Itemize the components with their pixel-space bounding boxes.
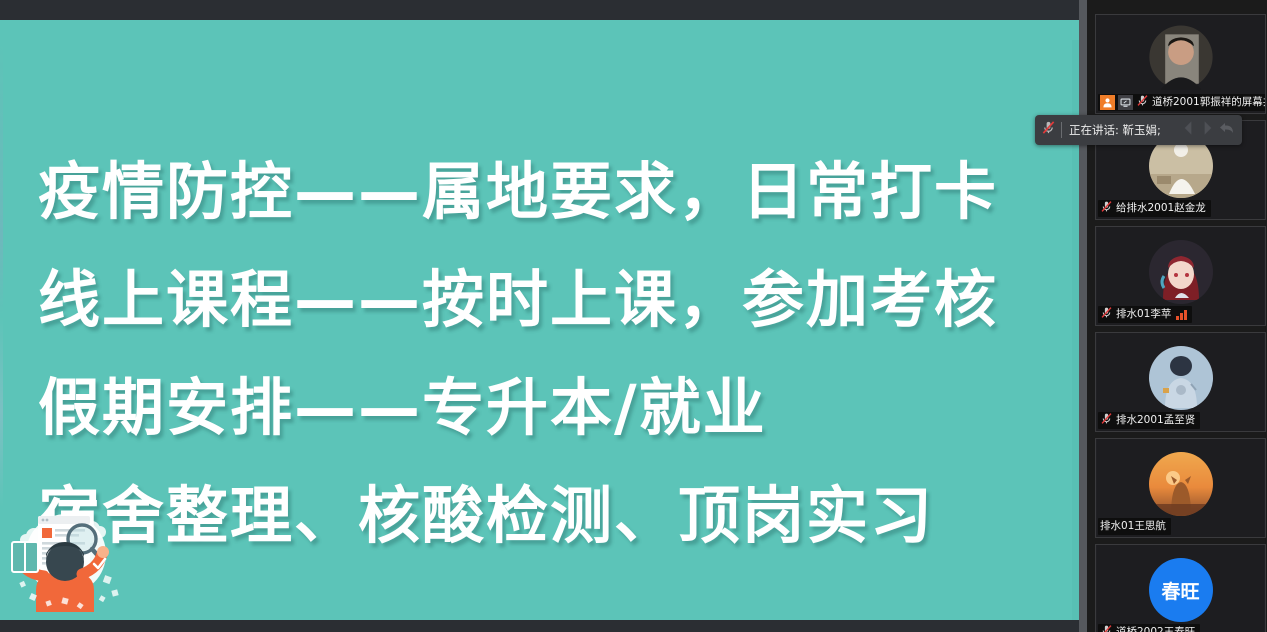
mic-muted-icon bbox=[1100, 306, 1113, 324]
person-with-magnifier-illustration bbox=[8, 502, 128, 612]
chevron-right-icon[interactable] bbox=[1199, 119, 1216, 142]
active-speaker-text: 正在讲话: 靳玉娟; bbox=[1069, 122, 1180, 138]
back-arrow-icon[interactable] bbox=[1218, 119, 1236, 142]
participant-tile[interactable]: 排水01王思航 bbox=[1095, 438, 1266, 538]
mic-muted-icon bbox=[1100, 624, 1113, 632]
slide-line-4: 宿舍整理、核酸检测、顶岗实习 bbox=[38, 462, 1028, 570]
participant-rail[interactable]: 道桥2001郭振祥的屏幕共享 给排水2001赵金龙 bbox=[1079, 0, 1267, 632]
banner-divider bbox=[1061, 122, 1062, 138]
participant-name-strip: 排水01王思航 bbox=[1098, 518, 1171, 535]
screen-share-badge bbox=[1118, 95, 1133, 110]
stage-top-letterbox bbox=[0, 0, 1079, 20]
mic-muted-icon bbox=[1100, 412, 1113, 430]
participant-name-strip: 道桥2001郭振祥的屏幕共享 bbox=[1098, 94, 1266, 111]
participant-name-strip: 排水01李苹 bbox=[1098, 306, 1192, 323]
participant-name-strip: 给排水2001赵金龙 bbox=[1098, 200, 1211, 217]
avatar bbox=[1149, 346, 1213, 410]
presentation-slide: 疫情防控——属地要求，日常打卡 线上课程——按时上课，参加考核 假期安排——专升… bbox=[0, 20, 1079, 620]
participant-name: 道桥2002王春旺 bbox=[1116, 624, 1195, 632]
avatar bbox=[1149, 240, 1213, 304]
participant-name: 排水01李苹 bbox=[1116, 306, 1171, 323]
participant-tile[interactable]: 排水01李苹 bbox=[1095, 226, 1266, 326]
participant-tile[interactable]: 道桥2001郭振祥的屏幕共享 bbox=[1095, 14, 1266, 114]
slide-line-1: 疫情防控——属地要求，日常打卡 bbox=[38, 138, 1028, 246]
participant-name: 排水2001孟至贤 bbox=[1116, 412, 1195, 429]
shared-screen-stage[interactable]: 疫情防控——属地要求，日常打卡 线上课程——按时上课，参加考核 假期安排——专升… bbox=[0, 0, 1079, 632]
slide-left-edge-artifact bbox=[0, 40, 3, 620]
participant-name: 给排水2001赵金龙 bbox=[1116, 200, 1206, 217]
slide-line-2: 线上课程——按时上课，参加考核 bbox=[38, 246, 1028, 354]
stage-bottom-letterbox bbox=[0, 620, 1079, 632]
avatar bbox=[1149, 452, 1213, 516]
participant-name-strip: 道桥2002王春旺 bbox=[1098, 624, 1200, 632]
person-badge bbox=[1100, 95, 1115, 110]
banner-nav-controls[interactable] bbox=[1180, 119, 1236, 142]
signal-strength-icon bbox=[1176, 309, 1187, 320]
mic-muted-icon bbox=[1041, 120, 1056, 140]
avatar: 春旺 bbox=[1149, 558, 1213, 622]
participant-rail-background: 道桥2001郭振祥的屏幕共享 给排水2001赵金龙 bbox=[1087, 0, 1267, 632]
participant-tile[interactable]: 排水2001孟至贤 bbox=[1095, 332, 1266, 432]
mic-muted-icon bbox=[1136, 94, 1149, 112]
participant-name: 排水01王思航 bbox=[1100, 518, 1166, 535]
chevron-left-icon[interactable] bbox=[1180, 119, 1197, 142]
active-speaker-banner[interactable]: 正在讲话: 靳玉娟; bbox=[1035, 115, 1242, 145]
meeting-screen-share-window: 疫情防控——属地要求，日常打卡 线上课程——按时上课，参加考核 假期安排——专升… bbox=[0, 0, 1267, 632]
slide-line-3: 假期安排——专升本/就业 bbox=[38, 354, 1028, 462]
slide-text-block: 疫情防控——属地要求，日常打卡 线上课程——按时上课，参加考核 假期安排——专升… bbox=[38, 138, 1028, 570]
mic-muted-icon bbox=[1100, 200, 1113, 218]
participant-name-strip: 排水2001孟至贤 bbox=[1098, 412, 1200, 429]
participant-name: 道桥2001郭振祥的屏幕共享 bbox=[1152, 94, 1266, 111]
participant-tile[interactable]: 春旺 道桥2002王春旺 bbox=[1095, 544, 1266, 632]
